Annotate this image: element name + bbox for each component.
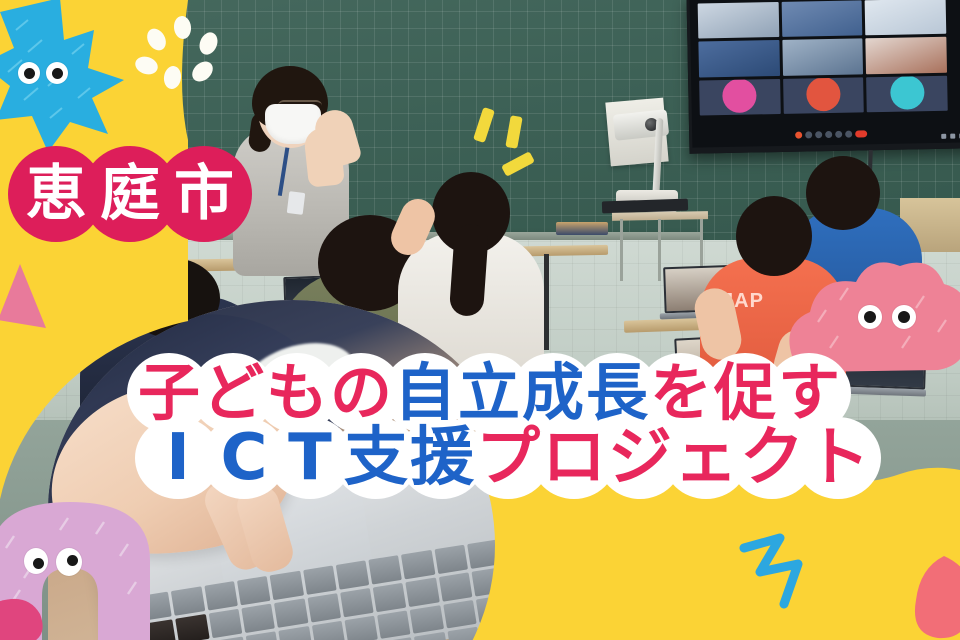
title-char-label: を [650, 362, 712, 424]
city-badge: 恵 庭 市 [14, 152, 236, 236]
mic-icon [795, 131, 802, 138]
city-badge-char: 市 [162, 152, 246, 236]
title-char: ど [198, 358, 268, 428]
avatar [722, 79, 757, 113]
title-char: も [262, 358, 332, 428]
title-char-label: す [778, 362, 840, 424]
title-char: す [774, 358, 844, 428]
title-char-label: 長 [586, 362, 648, 424]
title-char: ジ [604, 422, 676, 494]
video-tile [781, 0, 862, 37]
title-char-label: 促 [714, 362, 776, 424]
video-tile [865, 0, 946, 36]
end-call-icon [855, 130, 867, 137]
title-char: ロ [538, 422, 610, 494]
lilac-blob-eyes [24, 548, 82, 576]
title-line-2: ICT支援プロジェクト [0, 422, 960, 494]
city-badge-char-label: 庭 [100, 164, 160, 224]
participant-name [870, 106, 871, 110]
eye-icon [24, 548, 48, 574]
display-screen [687, 0, 960, 154]
camera-icon [805, 131, 812, 138]
avatar-tile [866, 75, 947, 112]
eye-icon [56, 548, 82, 576]
title-char-label: 支 [344, 426, 408, 490]
avatar-tile [699, 79, 780, 116]
city-badge-char: 恵 [14, 152, 98, 236]
city-badge-char-label: 市 [174, 164, 234, 224]
title-char: ェ [670, 422, 742, 494]
eye-icon [46, 62, 68, 84]
title-char: ク [736, 422, 808, 494]
title-char-label: 自 [394, 362, 456, 424]
participants-icon [815, 131, 822, 138]
title-char-label: 子 [138, 362, 200, 424]
participant-name [703, 109, 704, 113]
title-char: 支 [340, 422, 412, 494]
title-char-label: 立 [458, 362, 520, 424]
gear-icon [941, 134, 946, 139]
title-char: プ [472, 422, 544, 494]
call-control-bar [692, 122, 960, 145]
title-char-label: 成 [522, 362, 584, 424]
title-char: を [646, 358, 716, 428]
title-char: の [326, 358, 396, 428]
title-char-label: ク [740, 426, 804, 490]
title-char-label: ト [806, 426, 870, 490]
student-head [806, 156, 880, 230]
avatar-tile [783, 77, 864, 114]
title-char: 促 [710, 358, 780, 428]
screen-status-icons [941, 133, 960, 138]
title-char-label: ロ [542, 426, 606, 490]
title-char: 成 [518, 358, 588, 428]
title-char-label: I [166, 426, 190, 490]
avatar [890, 75, 925, 109]
video-tile [698, 2, 779, 39]
banner-title: 子どもの自立成長を促す ICT支援プロジェクト [0, 358, 960, 494]
video-call-grid [698, 0, 948, 116]
network-icon [950, 134, 955, 139]
thumbnail-banner: JAP [0, 0, 960, 640]
student-head [736, 196, 812, 276]
title-char-label: ジ [608, 426, 672, 490]
title-line-1: 子どもの自立成長を促す [0, 358, 960, 428]
title-char: 援 [406, 422, 478, 494]
title-char-label: C [221, 426, 268, 490]
eye-icon [858, 305, 882, 329]
id-badge [287, 191, 306, 215]
city-badge-char: 庭 [88, 152, 172, 236]
eye-icon [18, 62, 40, 84]
video-tile [698, 40, 779, 77]
title-char: 立 [454, 358, 524, 428]
city-badge-char-label: 恵 [26, 164, 86, 224]
title-char: ト [802, 422, 874, 494]
pink-blob-eyes [858, 305, 916, 329]
title-char-label: ェ [674, 426, 738, 490]
title-char-label: 援 [410, 426, 474, 490]
ponytail [449, 223, 489, 317]
share-screen-icon [835, 130, 842, 137]
chat-icon [825, 130, 832, 137]
title-char: 子 [134, 358, 204, 428]
title-char-label: の [330, 362, 392, 424]
title-char-label: も [266, 362, 328, 424]
title-char: 長 [582, 358, 652, 428]
chalkboard-eraser [556, 222, 608, 235]
more-icon [845, 130, 852, 137]
title-char: 自 [390, 358, 460, 428]
title-char-label: ど [202, 362, 264, 424]
avatar [806, 77, 841, 111]
participant-name [786, 108, 787, 112]
blue-blob-eyes [18, 62, 68, 84]
video-tile [782, 39, 863, 76]
eye-icon [892, 305, 916, 329]
title-char-label: T [288, 426, 332, 490]
desk-leg [544, 254, 549, 350]
video-tile [866, 37, 947, 74]
title-char-label: プ [476, 426, 540, 490]
